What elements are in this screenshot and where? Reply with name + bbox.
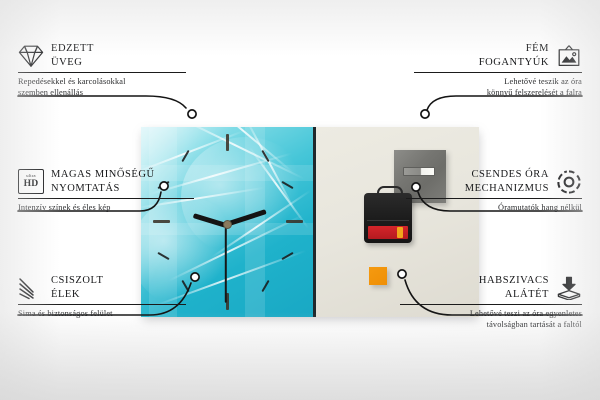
callout-title-line1: CSISZOLT	[51, 274, 103, 288]
callout-desc-line1: Sima és biztonságos felület	[18, 309, 186, 320]
diamond-icon	[18, 43, 44, 69]
callout-title-line2: FOGANTYÚK	[479, 56, 549, 70]
picture-hanger-icon	[556, 43, 582, 69]
callout-desc-line1: Óramutatók hang nélkül	[406, 203, 582, 214]
foam-pad-icon	[556, 275, 582, 301]
mechanism-seam	[367, 220, 409, 221]
callout-metal-handles: FÉM FOGANTYÚK Lehetővé teszik az óra kön…	[414, 42, 582, 98]
callout-title-line2: MECHANIZMUS	[465, 182, 549, 196]
callout-title-line1: HABSZIVACS	[479, 274, 549, 288]
clock-mechanism	[364, 193, 412, 243]
callout-title-line1: MAGAS MINŐSÉGŰ	[51, 168, 155, 182]
callout-divider	[400, 304, 582, 305]
battery	[368, 226, 408, 239]
callout-desc-line1: Lehetővé teszik az óra	[414, 77, 582, 88]
callout-desc-line1: Lehetővé teszi az óra egyenletes	[400, 309, 582, 320]
callout-desc-line2: távolságban tartását a faltól	[400, 320, 582, 331]
infographic-canvas: EDZETT ÜVEG Repedésekkel és karcolásokka…	[0, 0, 600, 400]
callout-desc-line1: Repedésekkel és karcolásokkal	[18, 77, 186, 88]
callout-title-line1: CSENDES ÓRA	[465, 168, 549, 182]
callout-divider	[18, 304, 186, 305]
callout-foam-pad: HABSZIVACS ALÁTÉT Lehetővé teszi az óra …	[400, 274, 582, 330]
endpoint-metal-handles	[421, 110, 429, 118]
gear-icon	[556, 169, 582, 195]
callout-silent-mechanism: CSENDES ÓRA MECHANIZMUS	[406, 168, 582, 214]
callout-desc-line2: könnyű felszerelését a falra	[414, 88, 582, 99]
polished-edges-icon	[18, 275, 44, 301]
callout-title-line2: ALÁTÉT	[479, 288, 549, 302]
callout-divider	[18, 198, 194, 199]
callout-tempered-glass: EDZETT ÜVEG Repedésekkel és karcolásokka…	[18, 42, 186, 98]
foam-pad	[369, 267, 387, 285]
endpoint-tempered-glass	[188, 110, 196, 118]
callout-polished-edges: CSISZOLT ÉLEK Sima és biztonságos felüle…	[18, 274, 186, 320]
callout-title-line2: ÜVEG	[51, 56, 94, 70]
callout-title-line1: FÉM	[479, 42, 549, 56]
callout-divider	[18, 72, 186, 73]
callout-title-line2: NYOMTATÁS	[51, 182, 155, 196]
callout-high-quality-print: ultra HD MAGAS MINŐSÉGŰ NYOMTATÁS Intenz…	[18, 168, 194, 214]
callout-desc-line1: Intenzív színek és éles kép	[18, 203, 194, 214]
ultra-hd-icon: ultra HD	[18, 169, 44, 195]
callout-divider	[406, 198, 582, 199]
callout-desc-line2: szemben ellenállás	[18, 88, 186, 99]
callout-title-line1: EDZETT	[51, 42, 94, 56]
callout-divider	[414, 72, 582, 73]
mechanism-loop	[377, 186, 403, 198]
callout-title-line2: ÉLEK	[51, 288, 103, 302]
